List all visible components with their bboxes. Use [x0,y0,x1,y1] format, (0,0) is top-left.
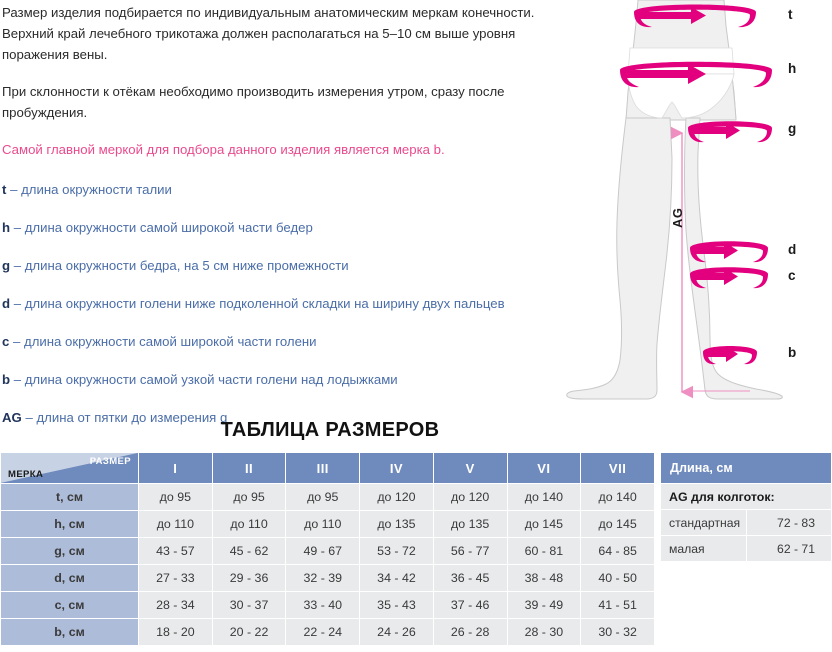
legend-text-c: – длина окружности самой широкой части г… [13,334,317,349]
size-table-wrapper: РАЗМЕР МЕРКА I II III IV V VI VII t, см [0,452,655,646]
length-table-header: Длина, см [661,453,832,484]
column-header-4: IV [360,453,434,484]
cell-d-6: 38 - 48 [507,565,581,592]
anatomical-diagram: AG t h g d c b [560,0,832,408]
cell-d-2: 29 - 36 [212,565,286,592]
cell-c-1: 28 - 34 [139,592,213,619]
legend-item-h: h – длина окружности самой широкой части… [2,218,552,238]
cell-d-5: 36 - 45 [433,565,507,592]
length-row-standard: стандартная 72 - 83 [661,510,832,536]
cell-d-4: 34 - 42 [360,565,434,592]
cell-b-2: 20 - 22 [212,619,286,646]
cell-t-6: до 140 [507,484,581,511]
legend-key-g: g [2,258,10,273]
cell-c-6: 39 - 49 [507,592,581,619]
corner-size-label: РАЗМЕР [90,456,131,467]
cell-t-5: до 120 [433,484,507,511]
cell-g-1: 43 - 57 [139,538,213,565]
corner-measure-label: МЕРКА [8,469,43,480]
cell-t-7: до 140 [581,484,655,511]
size-guide-page: Размер изделия подбирается по индивидуал… [0,0,832,652]
cell-h-2: до 110 [212,511,286,538]
diagram-label-d: d [788,242,796,257]
row-label-t: t, см [1,484,139,511]
cell-h-5: до 135 [433,511,507,538]
diagram-label-h: h [788,61,796,76]
legend-item-d: d – длина окружности голени ниже подколе… [2,294,552,314]
table-row: d, см 27 - 33 29 - 36 32 - 39 34 - 42 36… [1,565,655,592]
cell-h-1: до 110 [139,511,213,538]
column-header-2: II [212,453,286,484]
column-header-3: III [286,453,360,484]
cell-g-3: 49 - 67 [286,538,360,565]
legend-key-h: h [2,220,10,235]
diagram-label-g: g [788,121,796,136]
cell-b-7: 30 - 32 [581,619,655,646]
cell-c-2: 30 - 37 [212,592,286,619]
highlight-note: Самой главной меркой для подбора данного… [2,139,552,160]
cell-b-4: 24 - 26 [360,619,434,646]
legend-text-d: – длина окружности голени ниже подколенн… [14,296,505,311]
length-subheader-row: AG для колготок: [661,484,832,510]
cell-b-6: 28 - 30 [507,619,581,646]
cell-g-2: 45 - 62 [212,538,286,565]
cell-c-3: 33 - 40 [286,592,360,619]
cell-g-7: 64 - 85 [581,538,655,565]
legend-item-g: g – длина окружности бедра, на 5 см ниже… [2,256,552,276]
legend-item-b: b – длина окружности самой узкой части г… [2,370,552,390]
table-row: t, см до 95 до 95 до 95 до 120 до 120 до… [1,484,655,511]
intro-paragraph-2: При склонности к отёкам необходимо произ… [2,81,550,123]
cell-b-3: 22 - 24 [286,619,360,646]
cell-c-4: 35 - 43 [360,592,434,619]
diagram-label-c: c [788,268,796,283]
table-row: c, см 28 - 34 30 - 37 33 - 40 35 - 43 37… [1,592,655,619]
cell-d-3: 32 - 39 [286,565,360,592]
cell-c-7: 41 - 51 [581,592,655,619]
cell-h-6: до 145 [507,511,581,538]
cell-g-6: 60 - 81 [507,538,581,565]
row-label-b: b, см [1,619,139,646]
cell-t-4: до 120 [360,484,434,511]
text-column: Размер изделия подбирается по индивидуал… [0,0,560,408]
legend-item-t: t – длина окружности талии [2,180,552,200]
table-header-row: РАЗМЕР МЕРКА I II III IV V VI VII [1,453,655,484]
cell-t-2: до 95 [212,484,286,511]
size-table: РАЗМЕР МЕРКА I II III IV V VI VII t, см [0,452,655,646]
table-corner-cell: РАЗМЕР МЕРКА [1,453,139,484]
intro-paragraph-1: Размер изделия подбирается по индивидуал… [2,2,550,65]
cell-b-5: 26 - 28 [433,619,507,646]
cell-d-1: 27 - 33 [139,565,213,592]
length-name-standard: стандартная [661,510,747,536]
cell-b-1: 18 - 20 [139,619,213,646]
row-label-d: d, см [1,565,139,592]
legend-key-b: b [2,372,10,387]
length-name-small: малая [661,536,747,562]
cell-t-1: до 95 [139,484,213,511]
diagram-label-t: t [788,7,793,22]
cell-g-5: 56 - 77 [433,538,507,565]
length-table: Длина, см AG для колготок: стандартная 7… [660,452,832,562]
legend-item-c: c – длина окружности самой широкой части… [2,332,552,352]
legend-text-g: – длина окружности бедра, на 5 см ниже п… [14,258,349,273]
cell-h-7: до 145 [581,511,655,538]
table-row: b, см 18 - 20 20 - 22 22 - 24 24 - 26 26… [1,619,655,646]
row-label-g: g, см [1,538,139,565]
measure-arrow-g [688,121,772,142]
length-value-small: 62 - 71 [746,536,832,562]
column-header-6: VI [507,453,581,484]
cell-h-4: до 135 [360,511,434,538]
cell-c-5: 37 - 46 [433,592,507,619]
cell-t-3: до 95 [286,484,360,511]
top-section: Размер изделия подбирается по индивидуал… [0,0,832,408]
legend-key-d: d [2,296,10,311]
cell-g-4: 53 - 72 [360,538,434,565]
page-title: ТАБЛИЦА РАЗМЕРОВ [0,419,660,442]
row-label-c: c, см [1,592,139,619]
legend-key-c: c [2,334,9,349]
diagram-label-b: b [788,345,796,360]
cell-h-3: до 110 [286,511,360,538]
length-value-standard: 72 - 83 [746,510,832,536]
cell-d-7: 40 - 50 [581,565,655,592]
legend-key-t: t [2,182,6,197]
column-header-5: V [433,453,507,484]
row-label-h: h, см [1,511,139,538]
legend-text-h: – длина окружности самой широкой части б… [14,220,313,235]
column-header-7: VII [581,453,655,484]
table-row: g, см 43 - 57 45 - 62 49 - 67 53 - 72 56… [1,538,655,565]
legend-text-b: – длина окружности самой узкой части гол… [14,372,398,387]
column-header-1: I [139,453,213,484]
legend-text-t: – длина окружности талии [10,182,172,197]
table-row: h, см до 110 до 110 до 110 до 135 до 135… [1,511,655,538]
length-subheader: AG для колготок: [661,484,832,510]
length-row-small: малая 62 - 71 [661,536,832,562]
length-header-row: Длина, см [661,453,832,484]
ag-measure-label: AG [670,208,685,229]
length-table-wrapper: Длина, см AG для колготок: стандартная 7… [660,452,832,562]
